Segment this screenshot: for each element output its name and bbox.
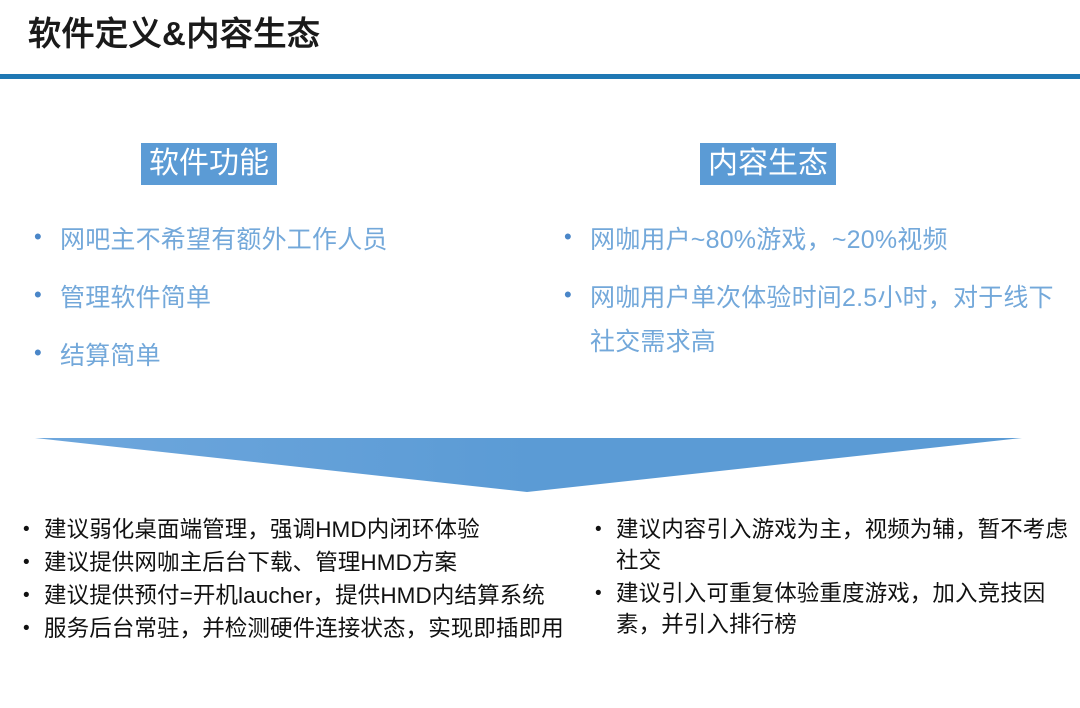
down-arrow-graphic bbox=[0, 430, 1080, 500]
list-item-label: 网咖用户单次体验时间2.5小时，对于线下社交需求高 bbox=[590, 276, 1066, 364]
list-item: 建议引入可重复体验重度游戏，加入竞技因素，并引入排行榜 bbox=[586, 578, 1076, 640]
list-item-label: 结算简单 bbox=[60, 334, 536, 378]
software-conclusion-list: 建议弱化桌面端管理，强调HMD内闭环体验 建议提供网咖主后台下载、管理HMD方案… bbox=[14, 514, 582, 646]
bullet-dot-icon bbox=[26, 276, 60, 314]
software-function-bullet-list: 网吧主不希望有额外工作人员 管理软件简单 结算简单 bbox=[26, 218, 536, 392]
section-heading-content-ecosystem: 内容生态 bbox=[700, 143, 836, 185]
list-item: 建议提供预付=开机laucher，提供HMD内结算系统 bbox=[14, 580, 582, 611]
list-item-label: 管理软件简单 bbox=[60, 276, 536, 320]
list-item: 建议弱化桌面端管理，强调HMD内闭环体验 bbox=[14, 514, 582, 545]
list-item: 网咖用户单次体验时间2.5小时，对于线下社交需求高 bbox=[556, 276, 1066, 364]
list-item-label: 建议引入可重复体验重度游戏，加入竞技因素，并引入排行榜 bbox=[616, 578, 1076, 640]
content-conclusion-list: 建议内容引入游戏为主，视频为辅，暂不考虑社交 建议引入可重复体验重度游戏，加入竞… bbox=[586, 514, 1076, 642]
bullet-dot-icon bbox=[14, 514, 44, 545]
content-ecosystem-bullet-list: 网咖用户~80%游戏，~20%视频 网咖用户单次体验时间2.5小时，对于线下社交… bbox=[556, 218, 1066, 378]
bullet-dot-icon bbox=[14, 547, 44, 578]
list-item-label: 建议弱化桌面端管理，强调HMD内闭环体验 bbox=[44, 514, 582, 545]
section-heading-software-function: 软件功能 bbox=[141, 143, 277, 185]
title-divider bbox=[0, 74, 1080, 79]
list-item-label: 网吧主不希望有额外工作人员 bbox=[60, 218, 536, 262]
bullet-dot-icon bbox=[26, 334, 60, 372]
list-item-label: 建议内容引入游戏为主，视频为辅，暂不考虑社交 bbox=[616, 514, 1076, 576]
bullet-dot-icon bbox=[14, 613, 44, 644]
bullet-dot-icon bbox=[556, 218, 590, 256]
bullet-dot-icon bbox=[26, 218, 60, 256]
list-item: 建议内容引入游戏为主，视频为辅，暂不考虑社交 bbox=[586, 514, 1076, 576]
page-title: 软件定义&内容生态 bbox=[28, 14, 320, 54]
list-item: 结算简单 bbox=[26, 334, 536, 378]
bullet-dot-icon bbox=[14, 580, 44, 611]
bullet-dot-icon bbox=[586, 514, 616, 545]
down-arrow-icon bbox=[0, 430, 1080, 500]
bullet-dot-icon bbox=[586, 578, 616, 609]
list-item: 服务后台常驻，并检测硬件连接状态，实现即插即用 bbox=[14, 613, 582, 644]
list-item: 网咖用户~80%游戏，~20%视频 bbox=[556, 218, 1066, 262]
slide-root: { "slide": { "title": "软件定义&内容生态", "acce… bbox=[0, 0, 1080, 708]
list-item: 网吧主不希望有额外工作人员 bbox=[26, 218, 536, 262]
list-item-label: 网咖用户~80%游戏，~20%视频 bbox=[590, 218, 1066, 262]
list-item-label: 建议提供网咖主后台下载、管理HMD方案 bbox=[44, 547, 582, 578]
list-item: 建议提供网咖主后台下载、管理HMD方案 bbox=[14, 547, 582, 578]
bullet-dot-icon bbox=[556, 276, 590, 314]
list-item-label: 建议提供预付=开机laucher，提供HMD内结算系统 bbox=[44, 580, 582, 611]
list-item-label: 服务后台常驻，并检测硬件连接状态，实现即插即用 bbox=[44, 613, 582, 644]
list-item: 管理软件简单 bbox=[26, 276, 536, 320]
